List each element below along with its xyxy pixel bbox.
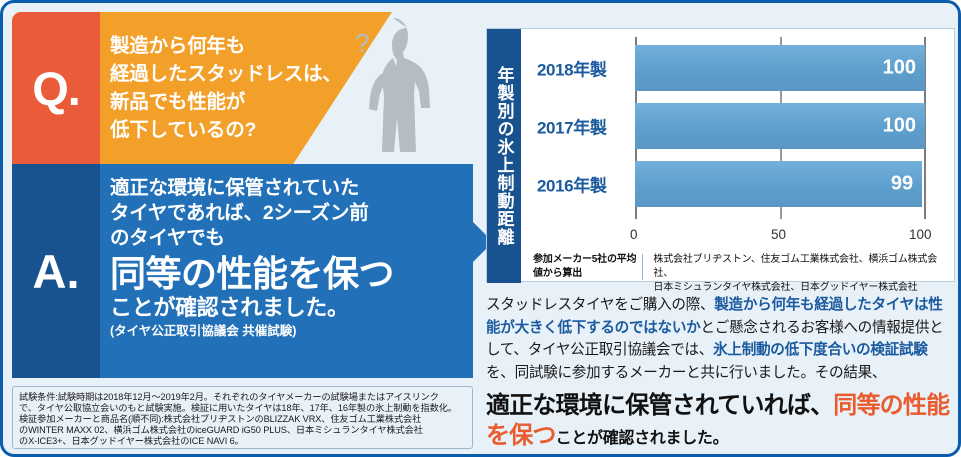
chart-source-note: 参加メーカー5社の平均値から算出 株式会社ブリヂストン、住友ゴム工業株式会社、横… [521, 251, 955, 283]
bar-value-label: 100 [883, 57, 916, 80]
chart-x-axis-ticks: 0 50 100 [521, 227, 955, 249]
thinking-person-silhouette-icon: ? [347, 16, 467, 164]
para-highlight-2: 氷上制動の低下度合いの検証試験 [713, 342, 927, 358]
test-conditions-footnote: 試験条件:試験時期は2018年12月〜2019年2月。それぞれのタイヤメーカーの… [12, 386, 473, 449]
chart-bar-row: 2016年製 99 [521, 161, 955, 207]
x-tick-100: 100 [909, 227, 932, 242]
conclusion-part-1: 適正な環境に保管されていれば、 [486, 392, 833, 419]
infographic-page: Q. 製造から何年も 経過したスタッドレスは、 新品でも性能が 低下しているの?… [0, 0, 961, 457]
chart-source-left: 参加メーカー5社の平均値から算出 [533, 253, 642, 281]
answer-line-3: のタイヤでも [110, 226, 460, 251]
svg-text:?: ? [355, 28, 369, 58]
bar-value-label: 99 [891, 173, 913, 196]
chart-plot-area: 2018年製 100 2017年製 100 [521, 29, 955, 227]
footnote-line-2: で、タイヤ公取協立会いのもと試験実施。検証に用いたタイヤは18年、17年、16年… [19, 403, 466, 414]
answer-panel: A. 適正な環境に保管されていた タイヤであれば、2シーズン前 のタイヤでも 同… [12, 164, 473, 378]
conclusion-text: 適正な環境に保管されていれば、同等の性能を保つことが確認されました。 [486, 391, 955, 454]
answer-line-1: 適正な環境に保管されていた [110, 176, 460, 201]
para-part-1: スタッドレスタイヤをご購入の際、 [486, 297, 714, 313]
question-line-2: 経過したスタッドレスは、 [110, 60, 380, 88]
para-part-3: を、同試験に参加するメーカーと共に行いました。その結果、 [486, 365, 886, 381]
footnote-line-1: 試験条件:試験時期は2018年12月〜2019年2月。それぞれのタイヤメーカーの… [19, 392, 466, 403]
chart-source-right-line-2: 日本ミシュランタイヤ株式会社、日本グッドイヤー株式会社 [653, 281, 955, 295]
explanation-paragraph: スタッドレスタイヤをご購入の際、製造から何年も経過したタイヤは性能が大きく低下す… [486, 294, 955, 384]
x-tick-0: 0 [630, 227, 638, 242]
left-column: Q. 製造から何年も 経過したスタッドレスは、 新品でも性能が 低下しているの?… [12, 12, 473, 449]
footnote-line-4: のWINTER MAXX 02、横浜ゴム株式会社のiceGUARD iG50 P… [19, 425, 466, 436]
bar-category-label: 2016年製 [537, 172, 606, 197]
answer-badge-label: A. [12, 164, 100, 378]
right-column: 年製別の氷上制動距離 2018年製 100 2017年製 [486, 12, 955, 449]
question-line-4: 低下しているの? [110, 116, 380, 144]
explanation-text-block: スタッドレスタイヤをご購入の際、製造から何年も経過したタイヤは性能が大きく低下す… [486, 294, 955, 454]
chart-bar-row: 2017年製 100 [521, 103, 955, 149]
bar-category-label: 2017年製 [537, 114, 606, 139]
bar-track: 100 [635, 45, 925, 91]
chart-bar-row: 2018年製 100 [521, 45, 955, 91]
chart-source-right-line-1: 株式会社ブリヂストン、住友ゴム工業株式会社、横浜ゴム株式会社、 [653, 253, 955, 281]
bar-track: 99 [635, 161, 925, 207]
chart-source-right: 株式会社ブリヂストン、住友ゴム工業株式会社、横浜ゴム株式会社、 日本ミシュランタ… [653, 253, 955, 295]
bar-category-label: 2018年製 [537, 56, 606, 81]
footnote-line-3: 検証参加メーカーと商品名(順不同):株式会社ブリヂストンのBLIZZAK VRX… [19, 414, 466, 425]
answer-source-note: (タイヤ公正取引協議会 共催試験) [110, 322, 460, 340]
bar-fill: 100 [635, 103, 925, 149]
question-line-3: 新品でも性能が [110, 88, 380, 116]
bar-fill: 100 [635, 45, 925, 91]
bar-track: 100 [635, 103, 925, 149]
question-badge-label: Q. [12, 12, 100, 164]
bar-fill: 99 [635, 161, 922, 207]
question-text: 製造から何年も 経過したスタッドレスは、 新品でも性能が 低下しているの? [110, 32, 380, 144]
answer-headline: 同等の性能を保つ [110, 253, 460, 295]
conclusion-part-2: ことが確認されました。 [556, 430, 729, 447]
question-line-1: 製造から何年も [110, 32, 380, 60]
chart-y-axis-title: 年製別の氷上制動距離 [487, 29, 521, 283]
answer-text: 適正な環境に保管されていた タイヤであれば、2シーズン前 のタイヤでも 同等の性… [110, 176, 460, 340]
question-panel: Q. 製造から何年も 経過したスタッドレスは、 新品でも性能が 低下しているの?… [12, 12, 473, 164]
answer-after-text: ことが確認されました。 [110, 295, 460, 321]
x-tick-50: 50 [771, 227, 786, 242]
footnote-line-5: のX-ICE3+、日本グッドイヤー株式会社のICE NAVI 6。 [19, 436, 466, 447]
bar-value-label: 100 [883, 115, 916, 138]
answer-line-2: タイヤであれば、2シーズン前 [110, 201, 460, 226]
chart-source-divider [642, 254, 643, 280]
ice-braking-distance-chart: 年製別の氷上制動距離 2018年製 100 2017年製 [486, 28, 955, 282]
